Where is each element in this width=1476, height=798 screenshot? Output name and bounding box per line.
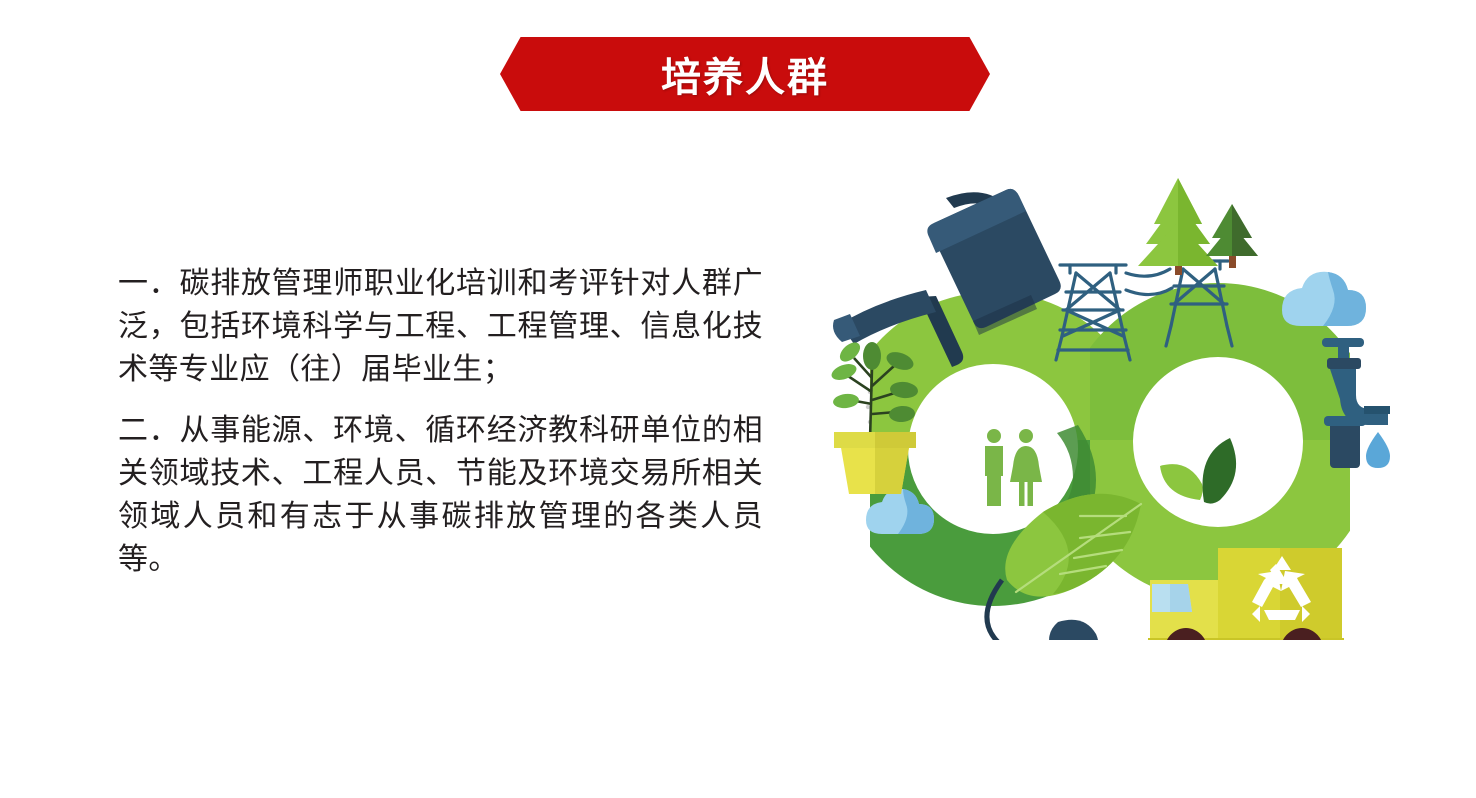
paragraph-two: 二．从事能源、环境、循环经济教科研单位的相关领域技术、工程人员、节能及环境交易所… <box>118 409 763 581</box>
water-droplet <box>1366 432 1390 468</box>
title-banner: 培养人群 <box>500 37 990 111</box>
page-title: 培养人群 <box>500 37 990 111</box>
sprout-leaves <box>1160 438 1236 504</box>
eco-illustration <box>830 160 1390 640</box>
people-man-woman <box>985 429 1042 506</box>
paragraph-one: 一．碳排放管理师职业化培训和考评针对人群广泛，包括环境科学与工程、工程管理、信息… <box>118 262 763 391</box>
big-leaf <box>1005 494 1141 597</box>
pine-tree-light <box>1138 178 1218 275</box>
body-copy: 一．碳排放管理师职业化培训和考评针对人群广泛，包括环境科学与工程、工程管理、信息… <box>118 262 763 581</box>
pine-tree-dark <box>1206 204 1258 268</box>
cloud-right <box>1282 272 1366 326</box>
